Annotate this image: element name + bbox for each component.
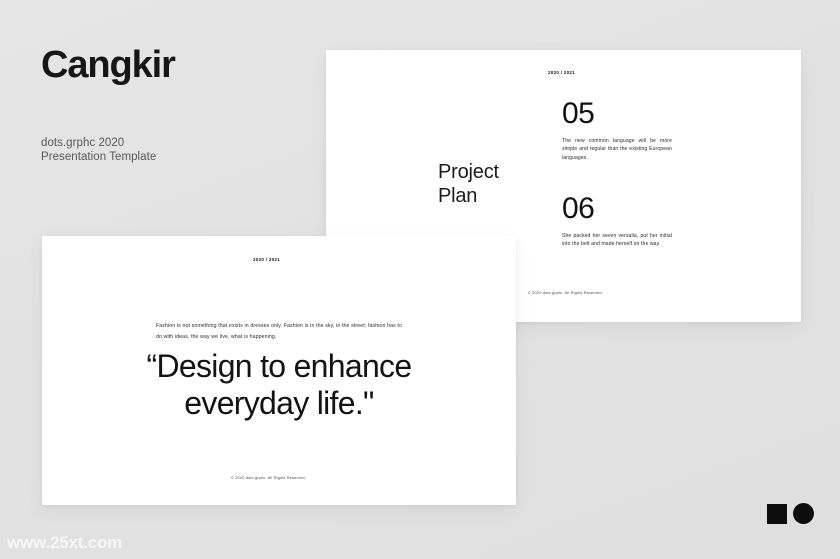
brand-block: Cangkir bbox=[41, 46, 301, 84]
brand-subtitle: dots.grphc 2020 Presentation Template bbox=[41, 137, 156, 164]
slide-pull-quote: “Design to enhance everyday life." bbox=[82, 348, 476, 422]
numbered-block: 05 The new common language will be more … bbox=[562, 98, 672, 162]
decorative-marks bbox=[767, 503, 814, 524]
filled-circle-icon bbox=[793, 503, 814, 524]
numbered-block: 06 She packed her seven versalia, put he… bbox=[562, 193, 672, 249]
watermark-text: www.25xt.com bbox=[7, 533, 122, 553]
slide-copyright-footer: © 2020 dots.grphc. All Rights Reserved. bbox=[231, 475, 306, 480]
block-number: 05 bbox=[562, 98, 672, 130]
block-number: 06 bbox=[562, 193, 672, 225]
page-title: Cangkir bbox=[41, 46, 301, 84]
block-body-text: The new common language will be more sim… bbox=[562, 137, 672, 162]
slide-intro-paragraph: Fashion is not something that exists in … bbox=[156, 321, 402, 342]
filled-square-icon bbox=[767, 504, 787, 524]
slide-copyright-footer: © 2020 dots.grphc. All Rights Reserved. bbox=[528, 290, 603, 295]
slide-date-label: 2020 / 2021 bbox=[548, 70, 575, 75]
block-body-text: She packed her seven versalia, put her i… bbox=[562, 232, 672, 249]
presentation-mockup-canvas: Cangkir dots.grphc 2020 Presentation Tem… bbox=[0, 0, 840, 559]
slide-quote[interactable]: 2020 / 2021 Fashion is not something tha… bbox=[42, 236, 516, 505]
slide-heading: Project Plan bbox=[438, 160, 499, 208]
slide-date-label: 2020 / 2021 bbox=[253, 257, 280, 262]
